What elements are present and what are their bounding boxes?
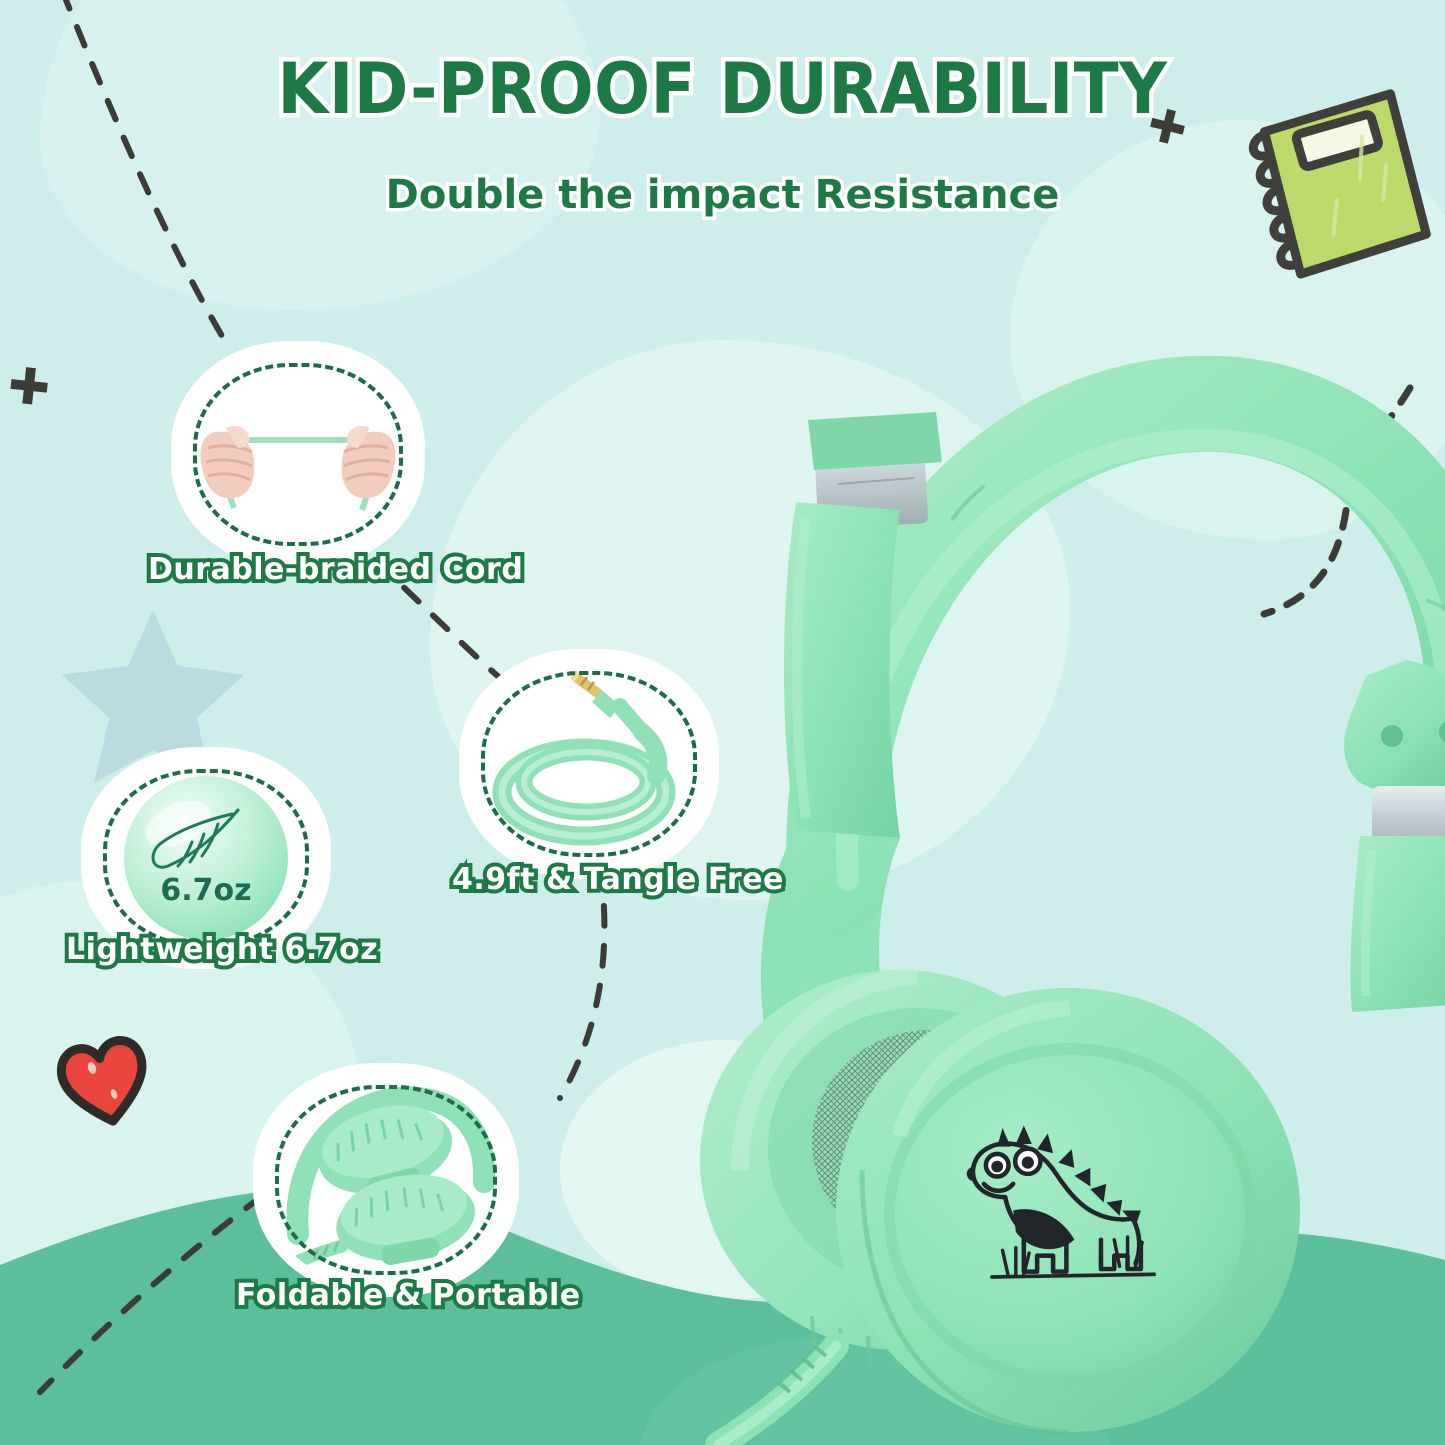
feature-label-foldable: Foldable & Portable	[236, 1278, 581, 1313]
callout-lightweight: 6.7oz	[92, 758, 320, 958]
callout-dashed-border	[103, 769, 309, 947]
infographic-canvas: KID-PROOF DURABILITY Double the impact R…	[0, 0, 1445, 1445]
callout-dashed-border	[481, 671, 697, 857]
feature-label-cable: 4.9ft & Tangle Free	[452, 862, 784, 897]
product-image-headphones	[600, 270, 1445, 1445]
page-title: KID-PROOF DURABILITY	[278, 48, 1168, 130]
callout-cable-length	[470, 660, 708, 868]
callout-durable-braided-cord	[182, 352, 414, 557]
callout-dashed-border	[193, 363, 403, 546]
page-subtitle: Double the impact Resistance	[0, 172, 1445, 218]
callout-foldable	[264, 1074, 508, 1286]
heart-icon	[52, 1030, 156, 1128]
page-title-wrapper: KID-PROOF DURABILITY	[0, 48, 1445, 130]
feature-label-lightweight: Lightweight 6.7oz	[66, 932, 378, 967]
callout-dashed-border	[275, 1085, 497, 1275]
background-blob-top-left	[40, 0, 600, 310]
plus-mark-icon: ✚	[5, 356, 53, 418]
feature-label-cord: Durable-braided Cord	[148, 552, 523, 587]
notebook-icon	[1243, 88, 1433, 288]
